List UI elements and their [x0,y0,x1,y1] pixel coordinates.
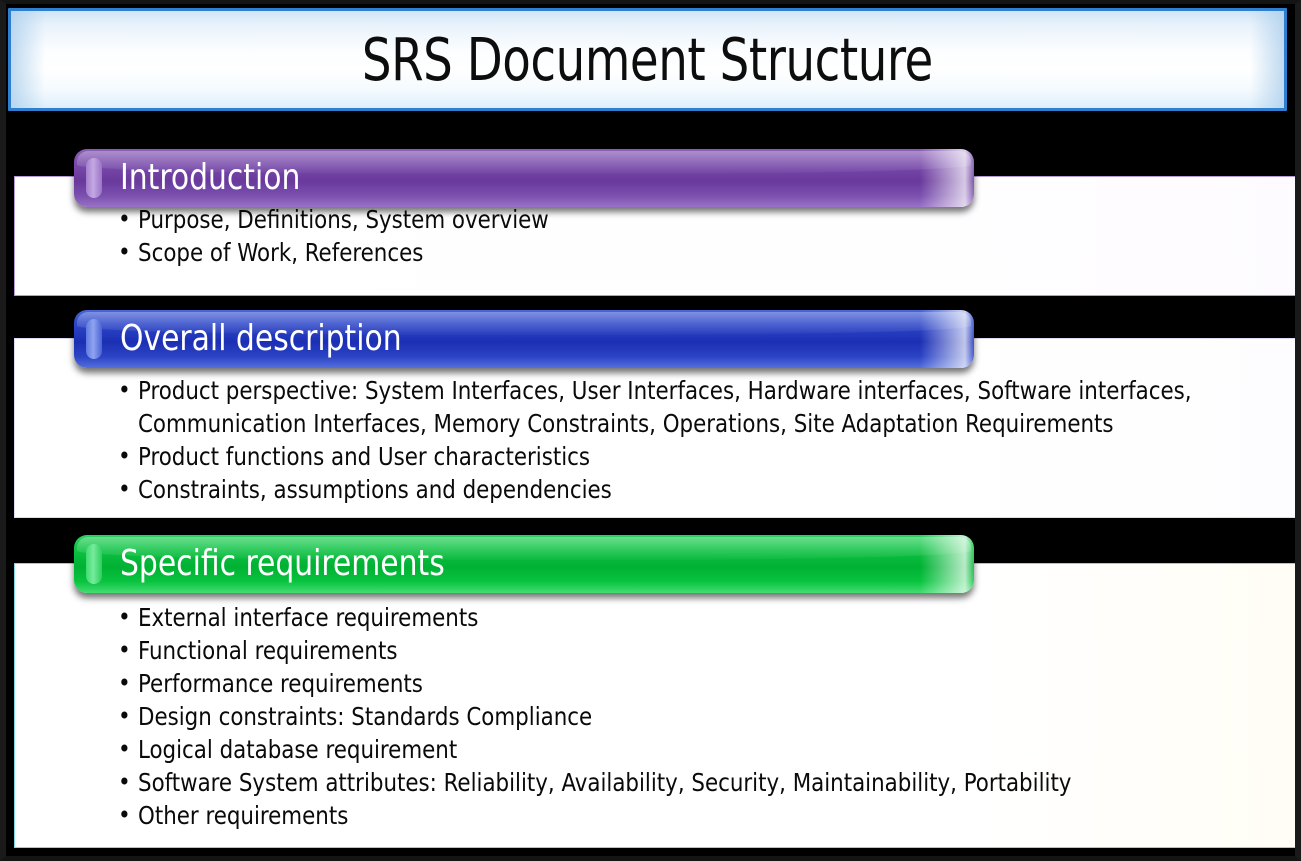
section-tab-icon [86,544,102,584]
list-item: • Functional requirements [118,634,1269,667]
slide-canvas: SRS Document Structure • Purpose, Defini… [0,0,1301,861]
bullet-dot-icon: • [118,374,138,407]
section-header-label: Specific requirements [120,546,445,582]
list-item: • Performance requirements [118,667,1269,700]
list-item: • Software System attributes: Reliabilit… [118,766,1269,799]
bullet-list-specific-requirements: • External interface requirements • Func… [118,601,1269,832]
list-item-label: Scope of Work, References [138,236,1212,269]
section-header-label: Overall description [120,321,402,357]
section-header-specific-requirements[interactable]: Specific requirements [74,535,974,593]
bullet-dot-icon: • [118,601,138,634]
bullet-list-overall-description: • Product perspective: System Interfaces… [118,374,1269,506]
bullet-dot-icon: • [118,473,138,506]
list-item: • Logical database requirement [118,733,1269,766]
list-item: • External interface requirements [118,601,1269,634]
list-item-label: Other requirements [138,799,1212,832]
bullet-dot-icon: • [118,667,138,700]
bullet-dot-icon: • [118,203,138,236]
section-tab-icon [86,158,102,198]
list-item-label: Logical database requirement [138,733,1212,766]
section-header-overall-description[interactable]: Overall description [74,310,974,368]
list-item-label: Performance requirements [138,667,1212,700]
list-item-label: Product perspective: System Interfaces, … [138,374,1212,440]
list-item: • Design constraints: Standards Complian… [118,700,1269,733]
bullet-dot-icon: • [118,733,138,766]
list-item-label: Constraints, assumptions and dependencie… [138,473,1212,506]
list-item: • Constraints, assumptions and dependenc… [118,473,1269,506]
bullet-dot-icon: • [118,236,138,269]
list-item-label: Software System attributes: Reliability,… [138,766,1212,799]
bullet-dot-icon: • [118,799,138,832]
list-item: • Scope of Work, References [118,236,1269,269]
section-header-label: Introduction [120,160,300,196]
list-item-label: Design constraints: Standards Compliance [138,700,1212,733]
bullet-dot-icon: • [118,766,138,799]
list-item: • Product perspective: System Interfaces… [118,374,1269,440]
bullet-dot-icon: • [118,440,138,473]
section-header-introduction[interactable]: Introduction [74,149,974,207]
bullet-dot-icon: • [118,700,138,733]
slide-title-bar: SRS Document Structure [8,8,1287,111]
list-item-label: External interface requirements [138,601,1212,634]
list-item-label: Purpose, Definitions, System overview [138,203,1212,236]
list-item-label: Product functions and User characteristi… [138,440,1212,473]
bullet-list-introduction: • Purpose, Definitions, System overview … [118,203,1269,269]
list-item-label: Functional requirements [138,634,1212,667]
page-title: SRS Document Structure [362,30,933,89]
list-item: • Product functions and User characteris… [118,440,1269,473]
list-item: • Other requirements [118,799,1269,832]
list-item: • Purpose, Definitions, System overview [118,203,1269,236]
section-specific-requirements: • External interface requirements • Func… [14,563,1299,848]
section-tab-icon [86,319,102,359]
bullet-dot-icon: • [118,634,138,667]
slide-title-inner: SRS Document Structure [11,11,1284,108]
